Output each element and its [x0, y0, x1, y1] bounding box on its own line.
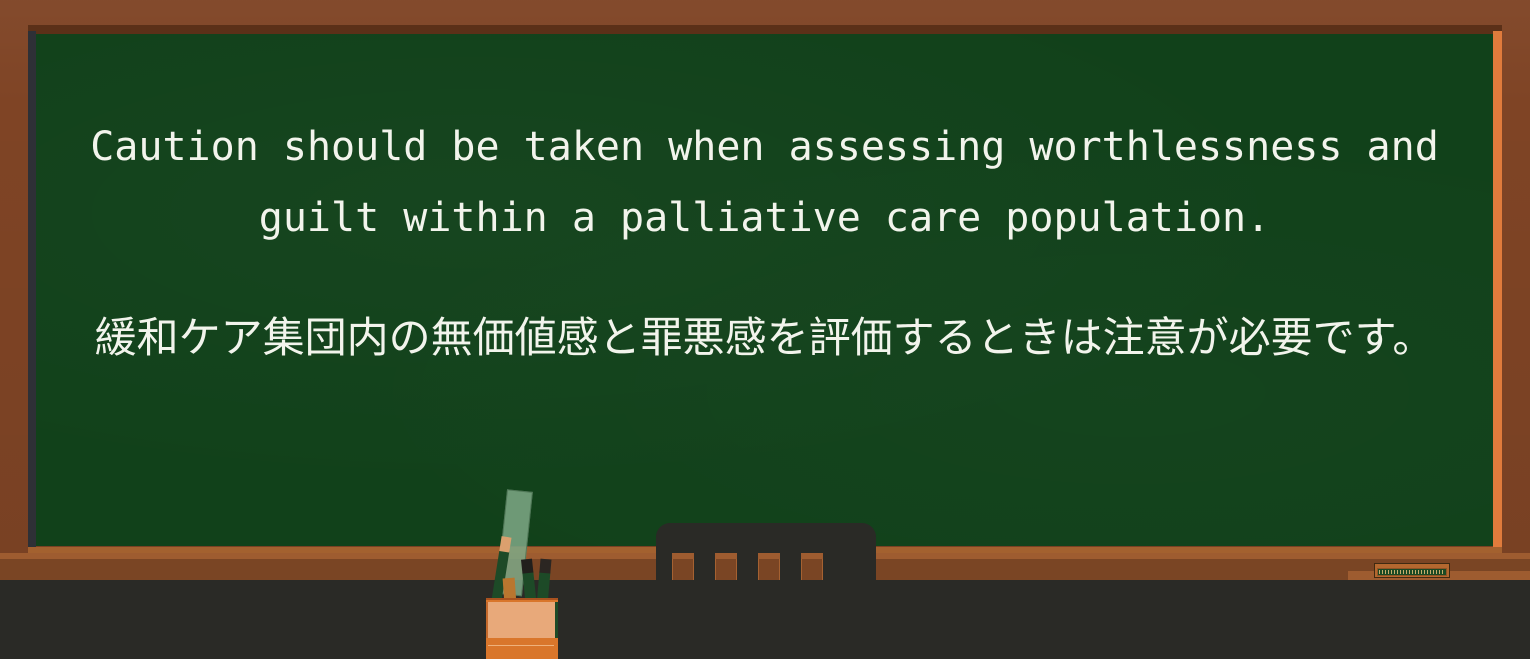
chair: [656, 523, 876, 659]
board-bevel-left: [28, 31, 36, 549]
chalkboard-scene: Caution should be taken when assessing w…: [0, 0, 1530, 659]
pencil-cup: [468, 490, 578, 659]
chalk-text-japanese: 緩和ケア集団内の無価値感と罪悪感を評価するときは注意が必要です。: [36, 306, 1493, 369]
chalkboard: Caution should be taken when assessing w…: [28, 25, 1502, 553]
chair-slot: [715, 553, 737, 580]
chalk-text-english: Caution should be taken when assessing w…: [36, 112, 1493, 254]
chair-slot: [672, 553, 694, 580]
chalk-text-block: Caution should be taken when assessing w…: [36, 112, 1493, 369]
cup-band: [486, 638, 558, 659]
board-bevel-top: [28, 25, 1502, 34]
chair-slot: [801, 553, 823, 580]
blackboard-eraser[interactable]: [1374, 563, 1450, 578]
chair-slot: [758, 553, 780, 580]
board-bevel-right: [1493, 31, 1502, 549]
board-surface: Caution should be taken when assessing w…: [36, 34, 1493, 546]
cup-band-line: [488, 645, 554, 646]
eraser-felt: [1377, 568, 1447, 576]
